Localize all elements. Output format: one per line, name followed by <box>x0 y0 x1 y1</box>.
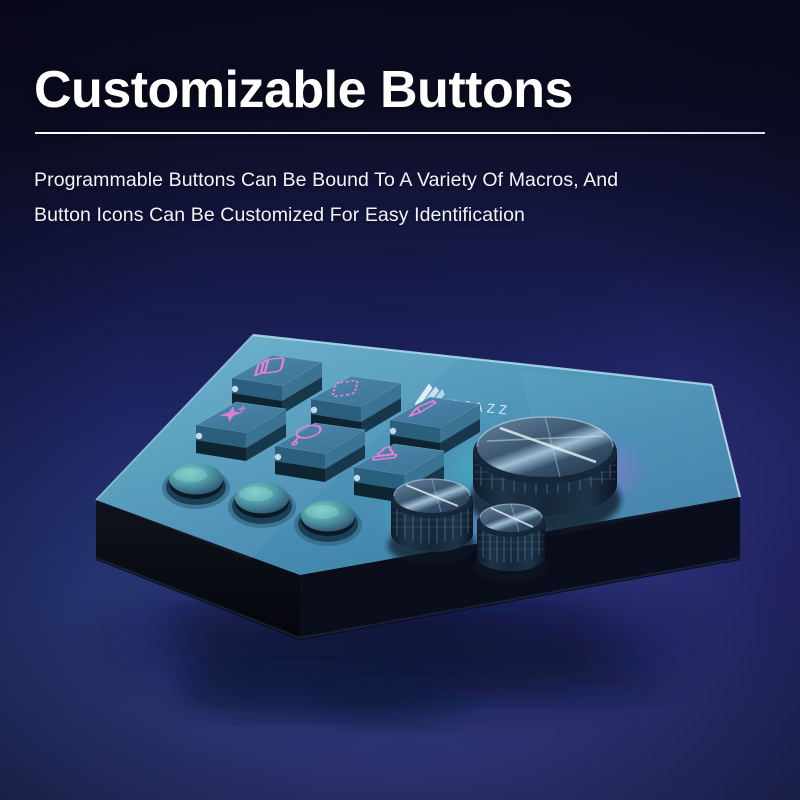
product-image-macro-keypad: AJAZZ <box>0 0 800 800</box>
knob-medium[interactable] <box>388 479 476 565</box>
knob-small[interactable] <box>474 504 548 583</box>
